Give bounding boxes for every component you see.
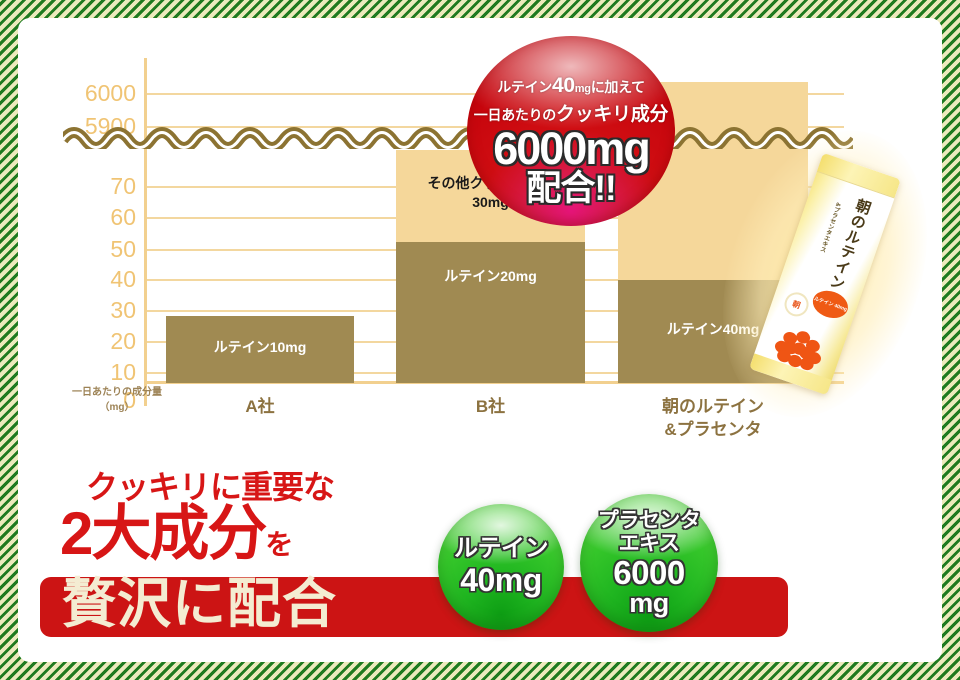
y-tick-label: 60 <box>110 206 136 229</box>
headline-3: 贅沢に配合 <box>62 574 337 634</box>
bubble-text: ルテイン40mgに加えて 一日あたりのクッキリ成分 6000mg 配合!! <box>467 36 675 226</box>
y-tick-label: 40 <box>110 268 136 291</box>
bar-segment-label-lutein: ルテイン10mg <box>166 338 354 357</box>
bubble-amount: 6000mg <box>493 127 649 170</box>
y-axis-caption-line1: 一日あたりの成分量 <box>58 386 176 401</box>
y-tick-label: 30 <box>110 299 136 322</box>
y-tick-label: 50 <box>110 238 136 261</box>
bubble-line1-c: mg <box>575 83 591 95</box>
bubble-line2: 一日あたりのクッキリ成分 <box>474 99 668 126</box>
x-category-line1: A社 <box>166 396 354 419</box>
bottom-banner: クッキリに重要な 2大成分を 贅沢に配合 ルテイン 40mg プラセンタ エキス… <box>18 446 942 662</box>
ingredient-ball-lutein-value: 40mg <box>460 564 542 598</box>
headline-2: 2大成分を <box>60 504 291 564</box>
bubble-line1-b: 40 <box>552 74 575 97</box>
y-axis-caption: 一日あたりの成分量 （mg） <box>58 386 176 415</box>
ingredient-ball-placenta-name-line1: プラセンタ <box>598 510 701 532</box>
y-tick-label: 5900 <box>85 115 136 138</box>
bubble-line2-b: クッキリ成分 <box>556 104 668 125</box>
package-seal-icon: 朝 <box>781 289 812 320</box>
y-axis-line <box>144 58 147 406</box>
package-badge: ルテイン 40mg <box>809 286 852 322</box>
bubble-line4: 配合!! <box>526 171 615 206</box>
headline-2-main: 2大成分 <box>60 500 265 567</box>
y-tick-label: 70 <box>110 175 136 198</box>
ingredient-ball-placenta-unit: mg <box>629 591 669 616</box>
y-axis-caption-line2: （mg） <box>58 401 176 416</box>
y-tick-label: 10 <box>110 361 136 384</box>
x-category-label-b: B社 <box>396 396 585 419</box>
headline-2-particle: を <box>265 529 291 560</box>
bar-segment-label-lutein: ルテイン20mg <box>396 267 585 286</box>
bar-segment-lutein <box>396 242 585 383</box>
ingredient-ball-lutein: ルテイン 40mg <box>438 504 564 630</box>
bubble-line1: ルテイン40mgに加えて <box>497 74 645 98</box>
callout-bubble: ルテイン40mgに加えて 一日あたりのクッキリ成分 6000mg 配合!! <box>467 36 683 232</box>
ingredient-ball-lutein-name: ルテイン <box>454 536 548 561</box>
x-category-line2: &プラセンタ <box>618 419 808 442</box>
content-card: 6000 5900 70 60 50 40 30 20 <box>18 18 942 662</box>
ingredient-ball-placenta-value: 6000 <box>613 556 684 591</box>
bubble-line2-a: 一日あたりの <box>474 107 556 123</box>
y-tick-label: 20 <box>110 330 136 353</box>
comparison-bar-chart: 6000 5900 70 60 50 40 30 20 <box>18 18 942 448</box>
x-category-line1: B社 <box>396 396 585 419</box>
ingredient-ball-placenta: プラセンタ エキス 6000 mg <box>580 494 718 632</box>
bubble-line1-d: に加えて <box>591 79 645 95</box>
bar-a-sha: ルテイン10mg <box>166 316 354 383</box>
ingredient-ball-placenta-name-line2: エキス <box>619 533 680 555</box>
y-tick-label: 6000 <box>85 82 136 105</box>
bubble-line1-a: ルテイン <box>497 79 552 95</box>
x-category-label-a: A社 <box>166 396 354 419</box>
promo-page: 6000 5900 70 60 50 40 30 20 <box>0 0 960 680</box>
